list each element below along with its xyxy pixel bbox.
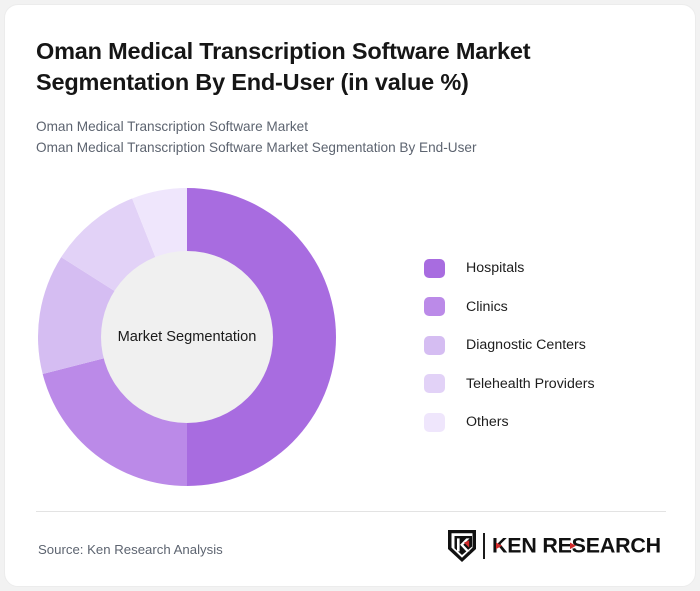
legend-swatch-icon xyxy=(424,374,445,393)
chart-legend: HospitalsClinicsDiagnostic CentersTelehe… xyxy=(424,249,595,442)
subtitle-segmentation: Oman Medical Transcription Software Mark… xyxy=(36,138,656,159)
chart-card: Oman Medical Transcription Software Mark… xyxy=(4,4,696,587)
ken-research-shield-icon xyxy=(447,529,477,563)
legend-swatch-icon xyxy=(424,259,445,278)
legend-swatch-icon xyxy=(424,297,445,316)
legend-item[interactable]: Others xyxy=(424,403,595,442)
logo-divider xyxy=(483,533,485,559)
legend-item-label: Telehealth Providers xyxy=(466,376,595,392)
legend-swatch-icon xyxy=(424,336,445,355)
legend-item-label: Hospitals xyxy=(466,260,524,276)
donut-hole xyxy=(101,251,273,423)
legend-item[interactable]: Telehealth Providers xyxy=(424,365,595,404)
footer-divider xyxy=(36,511,666,512)
legend-item-label: Others xyxy=(466,414,509,430)
breadcrumb: Oman Medical Transcription Software Mark… xyxy=(36,117,656,158)
legend-item-label: Clinics xyxy=(466,299,508,315)
donut-chart-svg xyxy=(38,188,336,486)
legend-item[interactable]: Diagnostic Centers xyxy=(424,326,595,365)
source-note: Source: Ken Research Analysis xyxy=(38,542,223,557)
ken-research-wordmark: KEN RESEARCH xyxy=(492,534,664,558)
legend-item[interactable]: Hospitals xyxy=(424,249,595,288)
legend-swatch-icon xyxy=(424,413,445,432)
legend-item-label: Diagnostic Centers xyxy=(466,337,586,353)
donut-chart: Market Segmentation xyxy=(38,188,336,486)
page-title: Oman Medical Transcription Software Mark… xyxy=(36,36,636,98)
ken-research-logo: KEN RESEARCH xyxy=(447,529,664,563)
subtitle-market: Oman Medical Transcription Software Mark… xyxy=(36,117,656,138)
logo-wordmark-text: KEN RESEARCH xyxy=(492,535,661,558)
legend-item[interactable]: Clinics xyxy=(424,288,595,327)
